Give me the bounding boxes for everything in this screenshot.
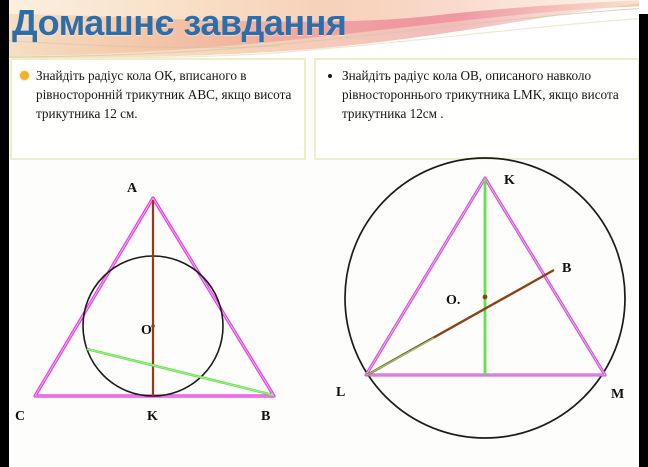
right-band-top-gap	[639, 0, 648, 14]
problems-row: Знайдіть радіус кола ОК, вписаного в рів…	[10, 58, 640, 160]
figures-area: A C B K O	[9, 162, 639, 462]
vertex-label-k: K	[147, 409, 158, 424]
center-label-o: O.	[446, 293, 460, 308]
page-title: Домашнє завдання	[12, 2, 346, 44]
right-black-band	[639, 14, 648, 467]
center-point-o	[483, 295, 488, 300]
slide-canvas: Домашнє завдання Знайдіть радіус кола ОК…	[0, 0, 648, 467]
vertex-label-b: B	[261, 409, 270, 424]
incircle-figure: A C B K O	[9, 162, 309, 452]
left-black-band	[0, 0, 9, 467]
problem-2-text: Знайдіть радіус кола ОВ, описаного навко…	[342, 66, 630, 123]
black-dot-bullet-icon	[328, 74, 332, 78]
center-label-o: O	[141, 323, 152, 338]
vertex-label-m: M	[611, 387, 624, 402]
vertex-label-a: A	[127, 181, 138, 196]
problem-box-2: Знайдіть радіус кола ОВ, описаного навко…	[314, 58, 640, 160]
vertex-label-l: L	[336, 385, 345, 400]
orange-dot-bullet-icon	[20, 71, 29, 80]
vertex-label-b: B	[562, 261, 571, 276]
vertex-label-c: C	[15, 409, 25, 424]
problem-1-text: Знайдіть радіус кола ОК, вписаного в рів…	[36, 66, 296, 123]
circumcircle-figure: K L M B O.	[314, 162, 644, 452]
vertex-label-k: K	[504, 173, 515, 188]
problem-box-1: Знайдіть радіус кола ОК, вписаного в рів…	[10, 58, 306, 160]
